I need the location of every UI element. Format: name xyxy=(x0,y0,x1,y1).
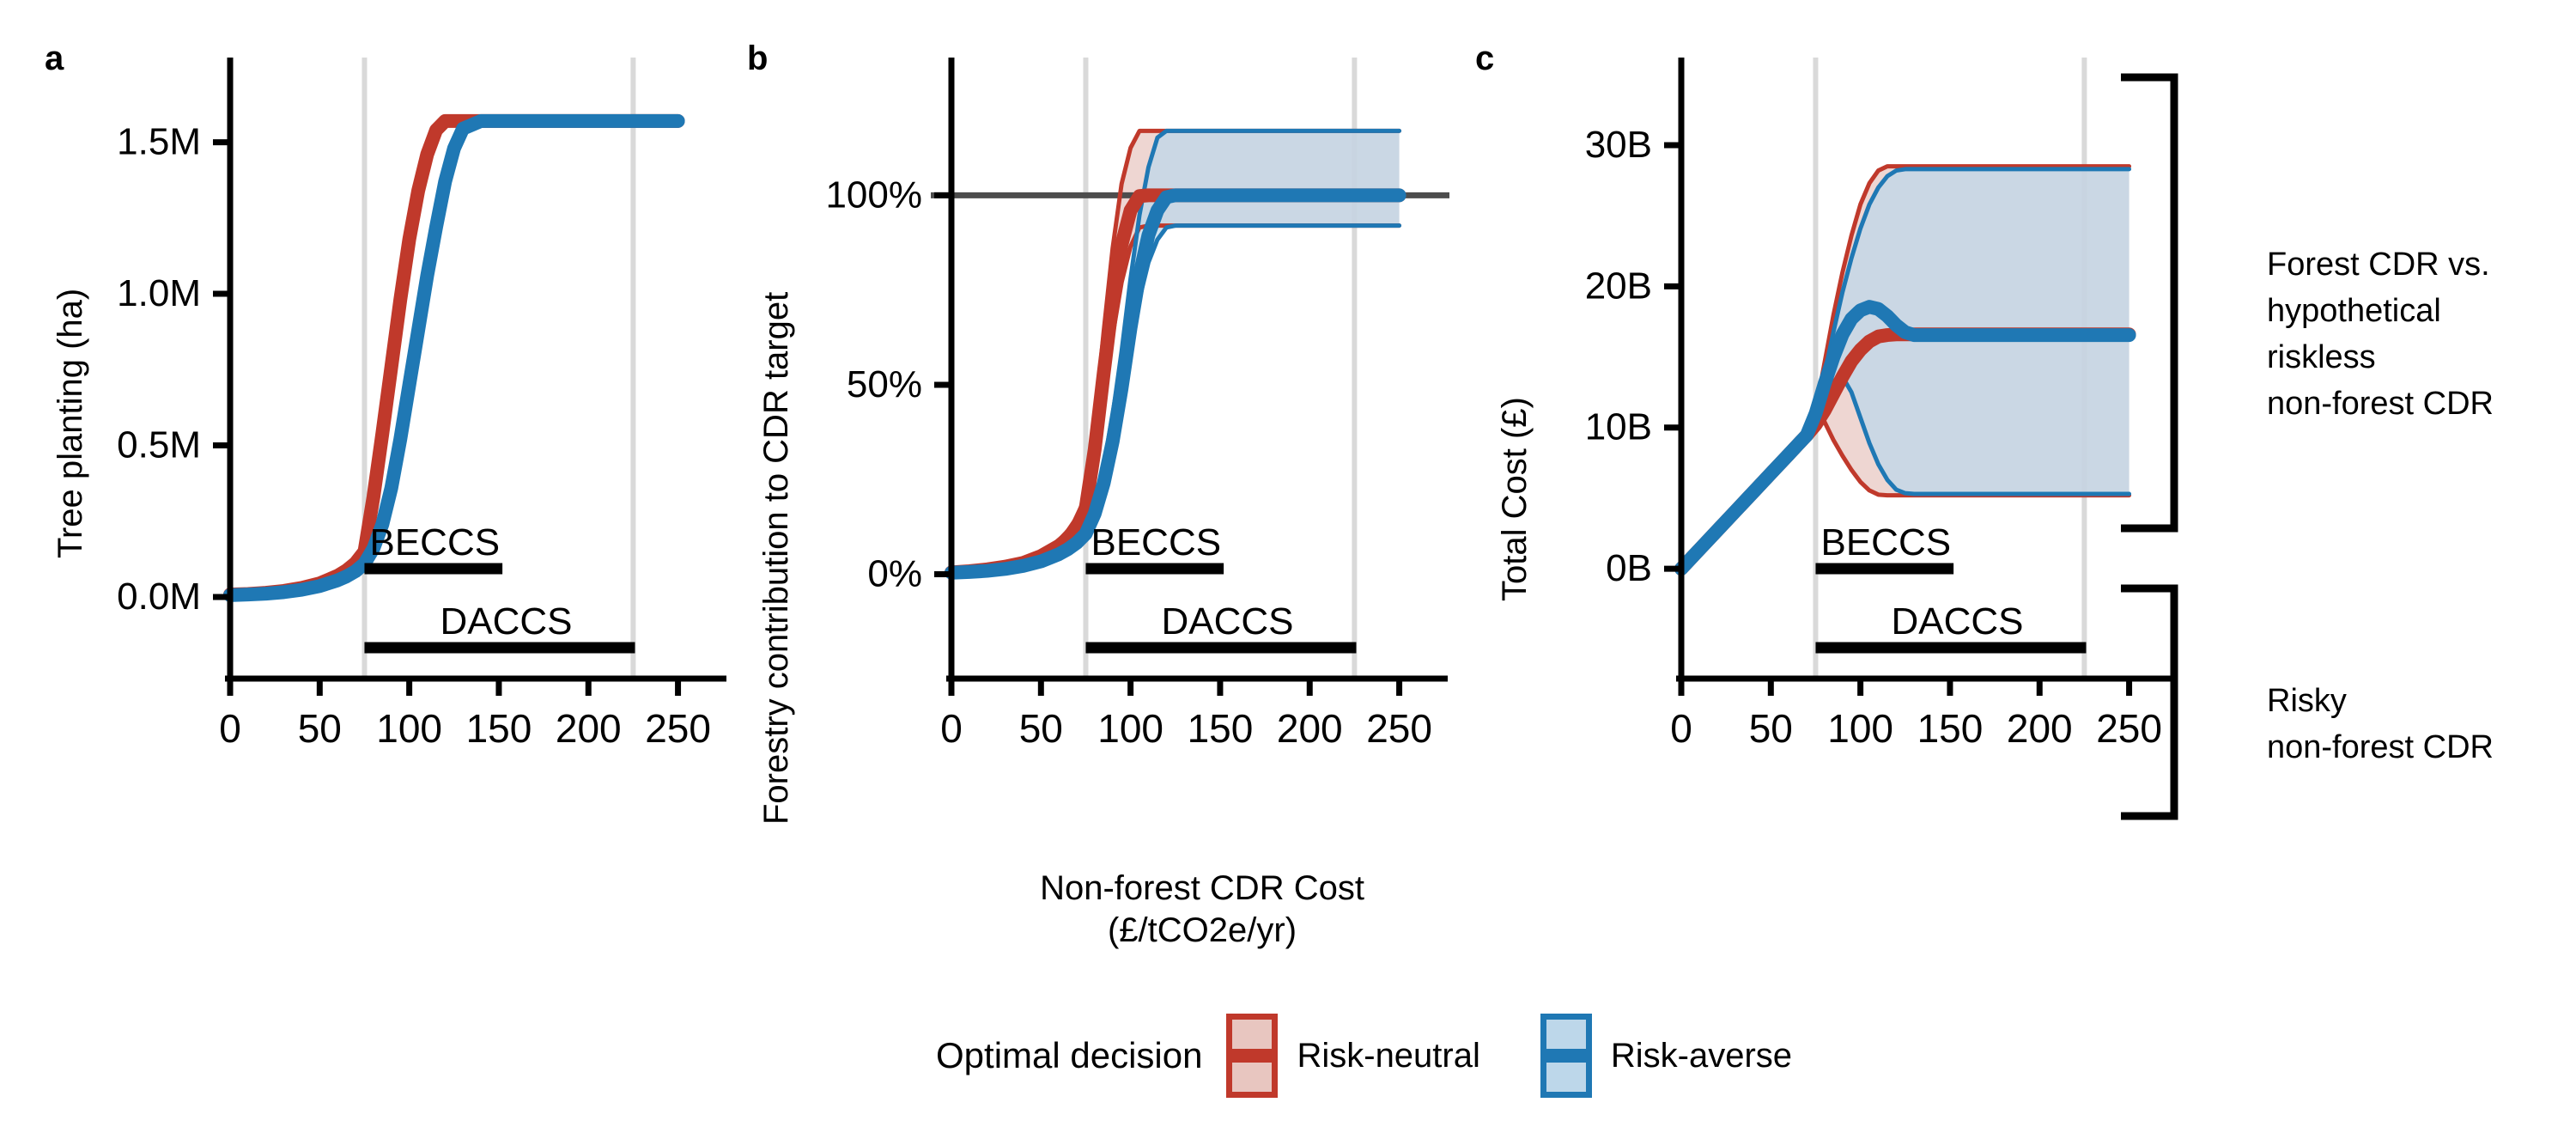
x-tick-label: 250 xyxy=(1366,706,1432,751)
y-tick-label: 1.5M xyxy=(117,121,201,163)
y-tick-label: 50% xyxy=(847,363,922,405)
bracket-forest-vs-riskless xyxy=(2121,77,2174,528)
x-tick-label: 200 xyxy=(2007,706,2073,751)
x-tick-label: 100 xyxy=(1097,706,1163,751)
x-tick-label: 50 xyxy=(1019,706,1063,751)
y-tick-label: 1.0M xyxy=(117,272,201,314)
panel-b: b Forestry contribution to CDR target 0%… xyxy=(721,0,1477,902)
legend-swatch-line-risk-averse xyxy=(1546,1049,1586,1063)
tech-band-label-daccs: DACCS xyxy=(1891,600,2023,643)
y-tick-label: 0.0M xyxy=(117,576,201,618)
y-tick-label: 10B xyxy=(1585,406,1652,448)
y-tick-label: 100% xyxy=(825,174,922,216)
annotation-forest-vs-riskless: Forest CDR vs. hypothetical riskless non… xyxy=(2267,242,2494,428)
panel-c: c Total Cost (£) 0B10B20B30B050100150200… xyxy=(1451,0,2207,902)
ribbon-risk-averse xyxy=(1681,169,2129,569)
y-tick-label: 0% xyxy=(867,553,922,595)
x-tick-label: 0 xyxy=(940,706,963,751)
x-tick-label: 150 xyxy=(1917,706,1984,751)
figure-root: a Tree planting (ha) 0.0M0.5M1.0M1.5M050… xyxy=(0,0,2576,1133)
tech-band-label-beccs: BECCS xyxy=(1820,521,1951,563)
tech-band-label-beccs: BECCS xyxy=(1091,521,1221,563)
legend-title: Optimal decision xyxy=(936,1035,1202,1076)
panel-c-plot: 0B10B20B30B050100150200250BECCSDACCS xyxy=(1451,0,2207,902)
y-tick-label: 30B xyxy=(1585,124,1652,166)
x-tick-label: 200 xyxy=(556,706,622,751)
x-tick-label: 50 xyxy=(1749,706,1793,751)
legend-swatch-risk-neutral[interactable] xyxy=(1226,1014,1278,1098)
panel-a: a Tree planting (ha) 0.0M0.5M1.0M1.5M050… xyxy=(0,0,756,902)
legend-swatch-risk-averse[interactable] xyxy=(1540,1014,1592,1098)
x-tick-label: 0 xyxy=(1670,706,1692,751)
x-tick-label: 150 xyxy=(1188,706,1254,751)
panel-a-plot: 0.0M0.5M1.0M1.5M050100150200250BECCSDACC… xyxy=(0,0,756,902)
tech-band-label-daccs: DACCS xyxy=(1161,600,1293,643)
y-tick-label: 20B xyxy=(1585,265,1652,307)
tech-band-label-daccs: DACCS xyxy=(440,600,572,643)
legend: Optimal decision Risk-neutral Risk-avers… xyxy=(936,1014,1852,1098)
y-tick-label: 0.5M xyxy=(117,424,201,466)
panel-b-plot: 0%50%100%050100150200250BECCSDACCS xyxy=(721,0,1477,902)
x-tick-label: 200 xyxy=(1277,706,1343,751)
legend-label-risk-neutral: Risk-neutral xyxy=(1297,1037,1479,1075)
tech-band-label-beccs: BECCS xyxy=(369,521,500,563)
x-tick-label: 150 xyxy=(466,706,532,751)
y-tick-label: 0B xyxy=(1606,547,1652,589)
line-risk-averse xyxy=(951,195,1400,572)
legend-swatch-line-risk-neutral xyxy=(1232,1049,1272,1063)
bracket-risky-nonforest xyxy=(2121,588,2174,816)
bracket-group xyxy=(2121,0,2241,902)
x-tick-label: 0 xyxy=(219,706,241,751)
legend-label-risk-averse: Risk-averse xyxy=(1611,1037,1792,1075)
x-axis-title: Non-forest CDR Cost (£/tCO2e/yr) xyxy=(970,868,1434,952)
x-tick-label: 100 xyxy=(1827,706,1893,751)
x-tick-label: 250 xyxy=(645,706,711,751)
line-risk-neutral xyxy=(951,195,1400,572)
x-tick-label: 50 xyxy=(298,706,342,751)
annotation-risky-nonforest: Risky non-forest CDR xyxy=(2267,679,2494,771)
x-tick-label: 100 xyxy=(376,706,442,751)
